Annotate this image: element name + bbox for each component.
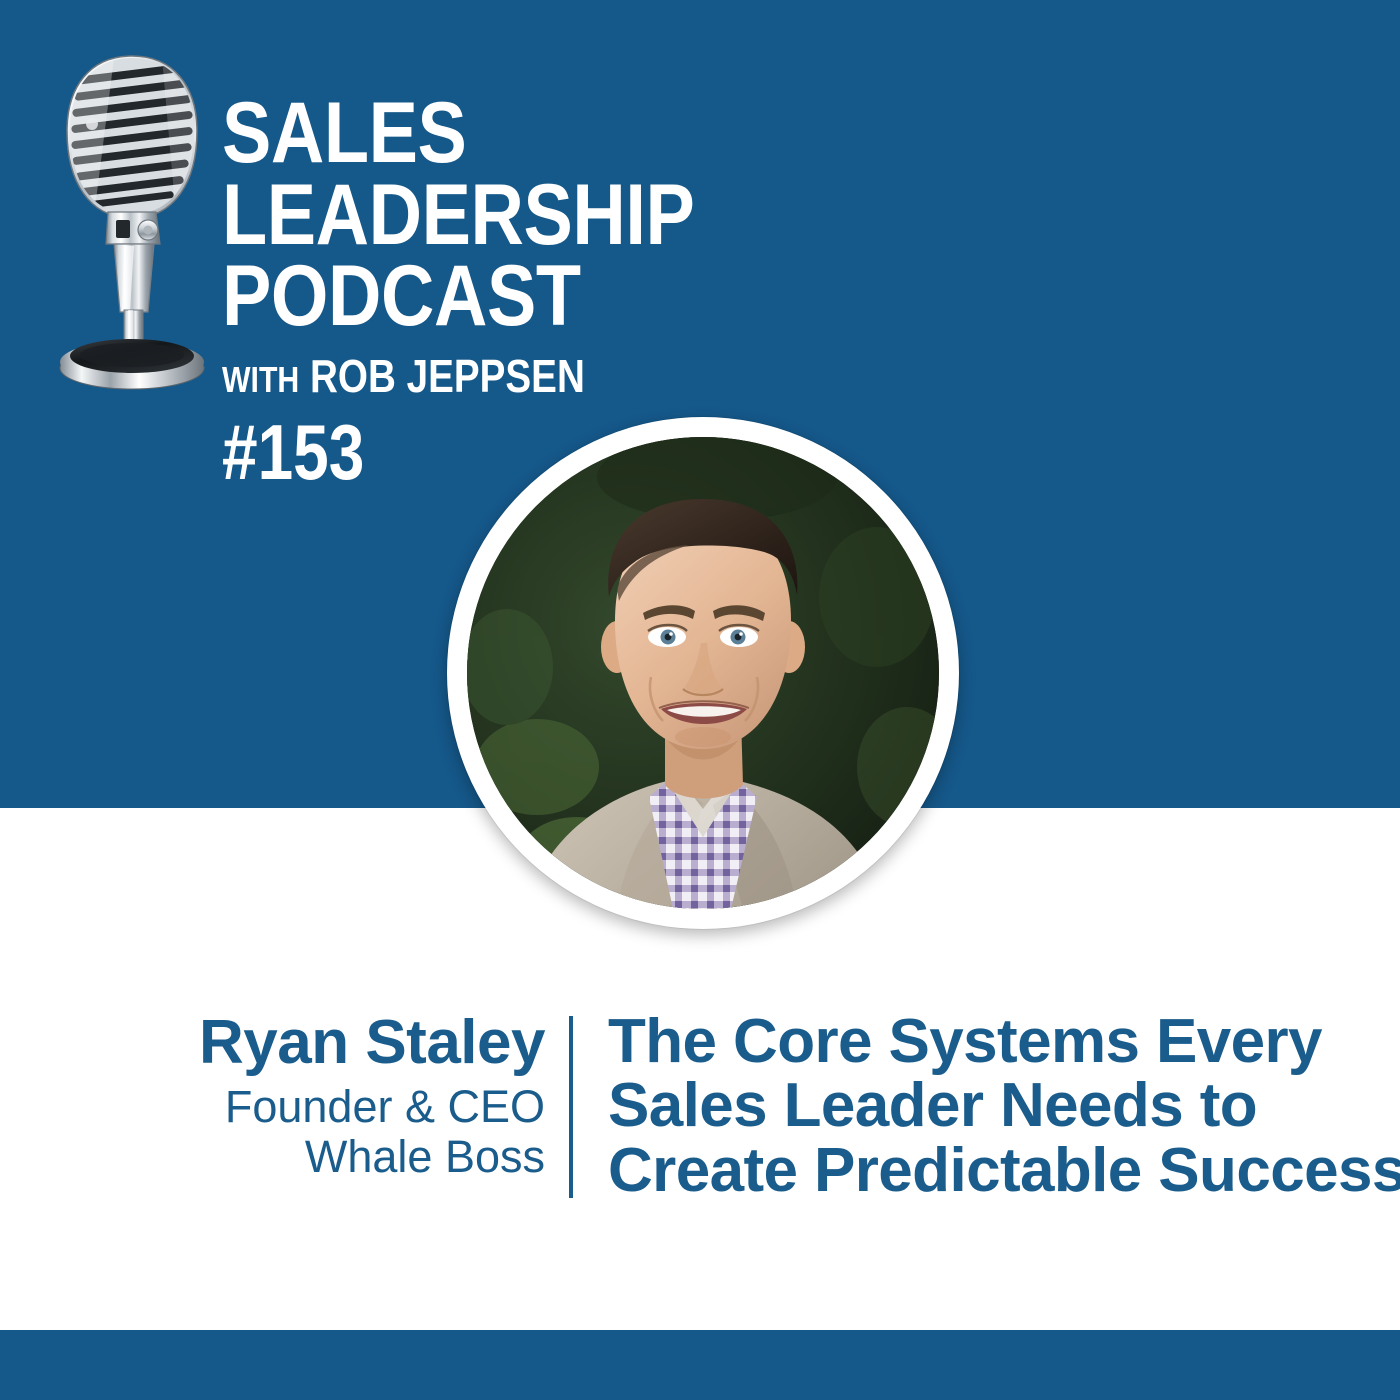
guest-portrait-frame <box>447 417 959 929</box>
footer-bar <box>0 1330 1400 1400</box>
vertical-divider <box>569 1016 573 1198</box>
logo-line-sales: SALES <box>222 96 626 172</box>
episode-title-line-3: Create Predictable Success <box>608 1139 1398 1203</box>
episode-title-line-2: Sales Leader Needs to <box>608 1074 1398 1138</box>
guest-portrait <box>467 437 939 909</box>
guest-info: Ryan Staley Founder & CEO Whale Boss <box>120 1012 545 1183</box>
guest-name: Ryan Staley <box>120 1012 545 1074</box>
guest-company: Whale Boss <box>120 1132 545 1182</box>
logo-line-podcast: PODCAST <box>222 259 626 335</box>
logo-line-leadership: LEADERSHIP <box>222 178 626 254</box>
episode-title-line-1: The Core Systems Every <box>608 1010 1398 1074</box>
host-credit: WITH ROB JEPPSEN <box>222 353 617 399</box>
host-name: ROB JEPPSEN <box>310 350 585 402</box>
podcast-cover-art: SALES LEADERSHIP PODCAST WITH ROB JEPPSE… <box>0 0 1400 1400</box>
retro-microphone-icon <box>44 44 220 392</box>
host-credit-with: WITH <box>222 359 299 400</box>
guest-role: Founder & CEO <box>120 1082 545 1132</box>
episode-title: The Core Systems Every Sales Leader Need… <box>608 1010 1398 1203</box>
